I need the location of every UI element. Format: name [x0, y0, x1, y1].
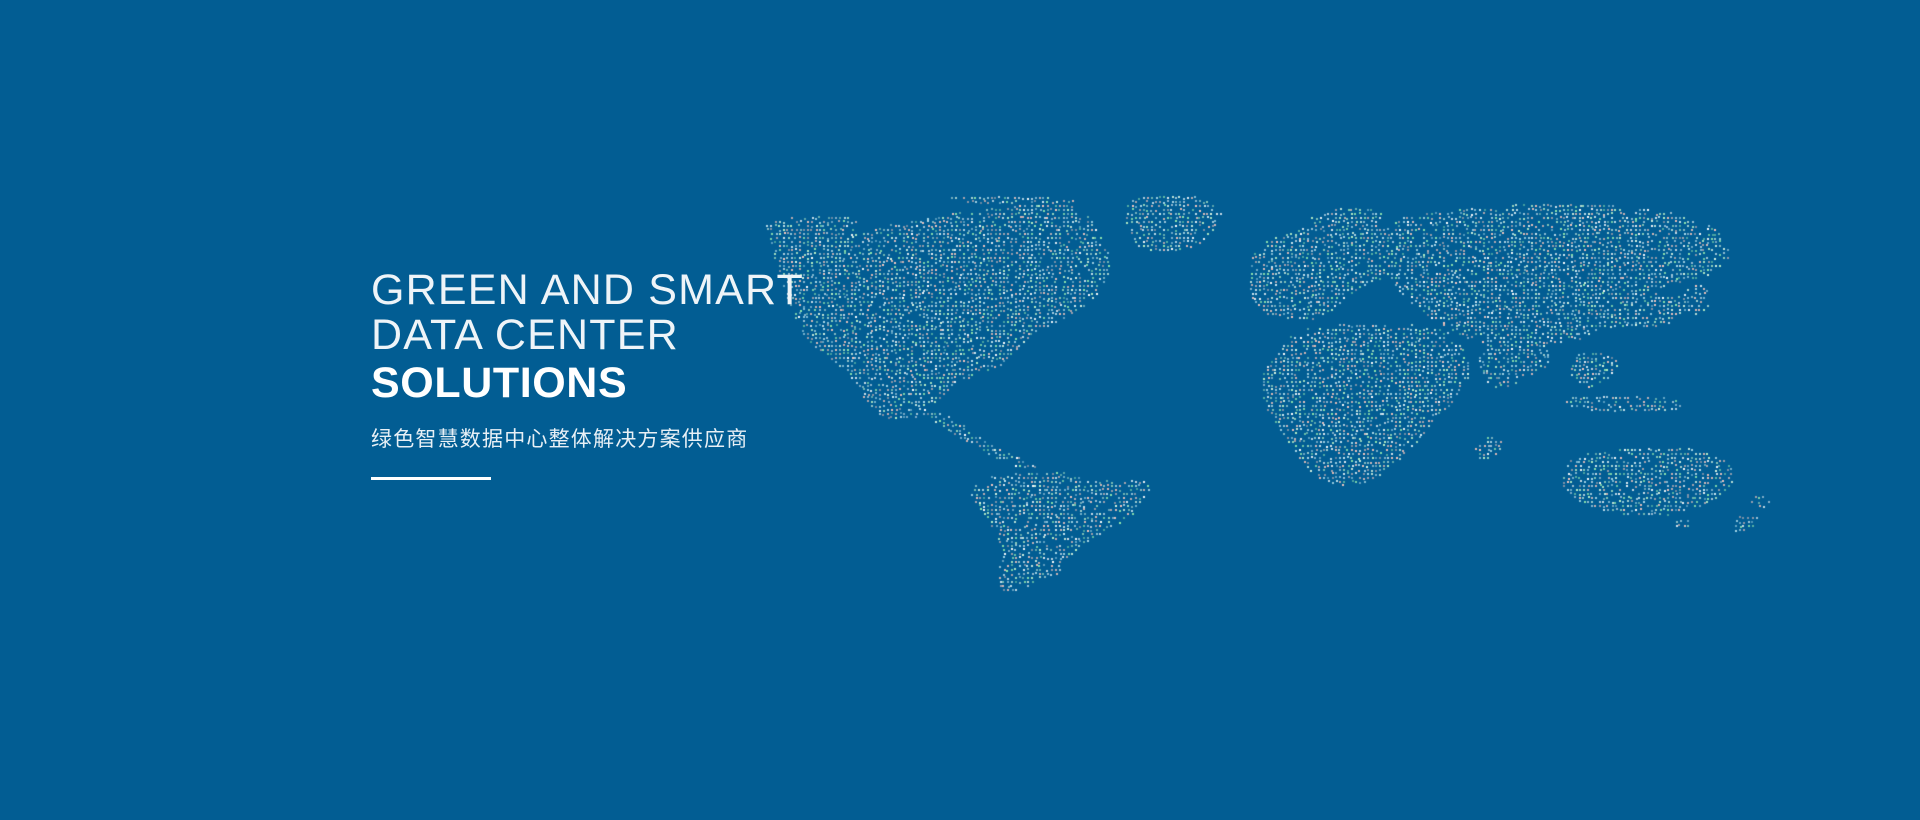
headline-line-1: GREEN AND SMART [371, 268, 931, 313]
world-map-canvas [0, 0, 1920, 820]
headline-line-3: SOLUTIONS [371, 358, 931, 408]
hero-headline: GREEN AND SMART DATA CENTER SOLUTIONS [371, 268, 931, 408]
title-underline-rule [371, 477, 491, 480]
hero-banner: GREEN AND SMART DATA CENTER SOLUTIONS 绿色… [0, 0, 1920, 820]
dotted-world-map [0, 0, 1920, 820]
headline-line-2: DATA CENTER [371, 313, 931, 358]
hero-subtitle-chinese: 绿色智慧数据中心整体解决方案供应商 [371, 423, 748, 453]
